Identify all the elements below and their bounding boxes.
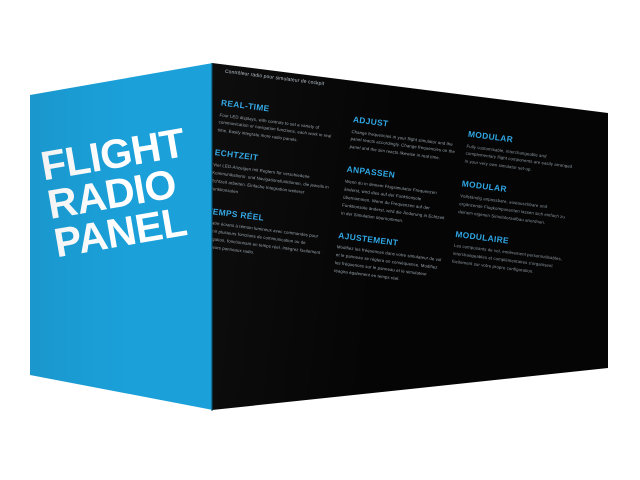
feature-body: Wenn du in deinem Flugsimulator Frequenz… bbox=[341, 178, 451, 231]
feature-block-modular-en: MODULAR Fully customisable, interchangea… bbox=[464, 129, 578, 180]
box-front-edge bbox=[211, 63, 213, 411]
feature-block-realtime-fr: TEMPS RÉEL Quatre écrans à témoin lumine… bbox=[210, 205, 330, 265]
feature-columns: REAL-TIME Four LED displays, with contro… bbox=[210, 97, 619, 321]
feature-block-adjust-en: ADJUST Change frequencies in your flight… bbox=[349, 114, 459, 164]
box-right-face: FLIGHT RADIO PANEL Professional radio co… bbox=[210, 0, 640, 480]
product-box-render: FLIGHT RADIO PANEL FLIGHT RADIO PANEL Pr… bbox=[0, 0, 640, 480]
feature-block-modular-fr: MODULAIRE Les composants de vol, entière… bbox=[451, 229, 565, 280]
feature-column-2: ADJUST Change frequencies in your flight… bbox=[332, 114, 469, 302]
feature-block-adjust-fr: AJUSTEMENT Modifiez les fréquences dans … bbox=[333, 230, 444, 288]
box-right-face-inner: FLIGHT RADIO PANEL Professional radio co… bbox=[210, 0, 640, 480]
feature-column-3: MODULAR Fully customisable, interchangea… bbox=[447, 129, 588, 318]
box-left-face-inner: FLIGHT RADIO PANEL bbox=[0, 0, 215, 480]
feature-block-adjust-de: ANPASSEN Wenn du in deinem Flugsimulator… bbox=[341, 164, 453, 230]
feature-column-1: REAL-TIME Four LED displays, with contro… bbox=[210, 97, 354, 287]
box-left-face: FLIGHT RADIO PANEL bbox=[0, 0, 215, 480]
feature-block-modular-de: MODULAR Vollständig anpassbare, austausc… bbox=[458, 179, 572, 230]
brand-wordmark: FLIGHT RADIO PANEL bbox=[38, 116, 215, 263]
feature-block-realtime-de: ECHTZEIT Vier LED-Anzeigen mit Reglern f… bbox=[210, 147, 337, 207]
feature-block-realtime-en: REAL-TIME Four LED displays, with contro… bbox=[217, 97, 344, 149]
